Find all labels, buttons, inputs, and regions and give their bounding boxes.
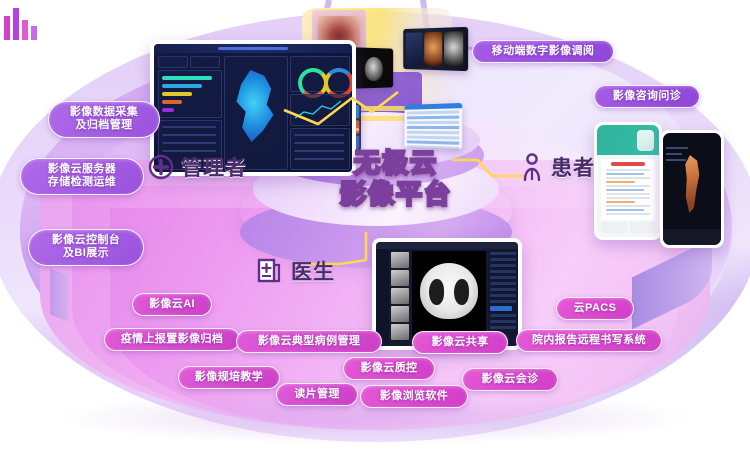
report-plus-icon: [256, 257, 284, 285]
role-doctor-label: 医生: [291, 256, 335, 286]
pill-patient-0[interactable]: 移动端数字影像调阅: [472, 40, 614, 63]
role-patient[interactable]: 患者: [520, 152, 595, 182]
ct-3d-screen: [663, 133, 721, 245]
role-admin[interactable]: 管理者: [148, 152, 247, 182]
platform-title-line-2: 影像平台: [316, 179, 476, 210]
role-doctor[interactable]: 医生: [256, 256, 335, 286]
pill-patient-1[interactable]: 影像咨询问诊: [594, 85, 700, 108]
disc-left-edge: [50, 268, 68, 321]
pill-doctor-7[interactable]: 院内报告远程书写系统: [516, 329, 662, 352]
ultrasound-image: [354, 47, 394, 88]
pill-doctor-10[interactable]: 影像浏览软件: [360, 385, 468, 408]
pill-doctor-8[interactable]: 影像云质控: [343, 357, 435, 380]
person-icon: [520, 153, 544, 181]
pill-doctor-3[interactable]: 影像规培教学: [178, 366, 280, 389]
pill-doctor-1[interactable]: 疫情上报置影像归档: [104, 328, 240, 351]
ct-3d-phone[interactable]: [660, 130, 724, 248]
platform-title-line-1: 无极云: [316, 148, 476, 179]
pill-doctor-5[interactable]: 云PACS: [556, 297, 634, 320]
data-table-screen: [405, 103, 463, 149]
circle-plus-icon: [148, 154, 174, 180]
pill-admin-1[interactable]: 影像云服务器 存储检测运维: [20, 158, 144, 195]
pill-doctor-9[interactable]: 影像云会诊: [462, 368, 558, 391]
bar-chart-icon: [0, 0, 40, 40]
pill-doctor-2[interactable]: 影像云典型病例管理: [236, 330, 382, 353]
pill-doctor-6[interactable]: 影像云共享: [412, 331, 508, 354]
platform-title: 无极云 影像平台: [316, 148, 476, 209]
patient-report-screen: [597, 125, 659, 237]
pill-doctor-4[interactable]: 读片管理: [276, 383, 358, 406]
ct-series-screen: [403, 27, 468, 71]
infographic-canvas: 管理者 患者 医生 无极云 影像平台 影像数据采集 及归档管理 影像云服务器 存…: [0, 0, 750, 450]
role-patient-label: 患者: [551, 152, 595, 182]
pill-admin-2[interactable]: 影像云控制台 及BI展示: [28, 229, 144, 266]
patient-report-phone[interactable]: [594, 122, 662, 240]
pill-doctor-0[interactable]: 影像云AI: [132, 293, 212, 316]
role-admin-label: 管理者: [181, 152, 247, 182]
connector-admin: [280, 88, 400, 148]
pill-admin-0[interactable]: 影像数据采集 及归档管理: [48, 101, 160, 138]
